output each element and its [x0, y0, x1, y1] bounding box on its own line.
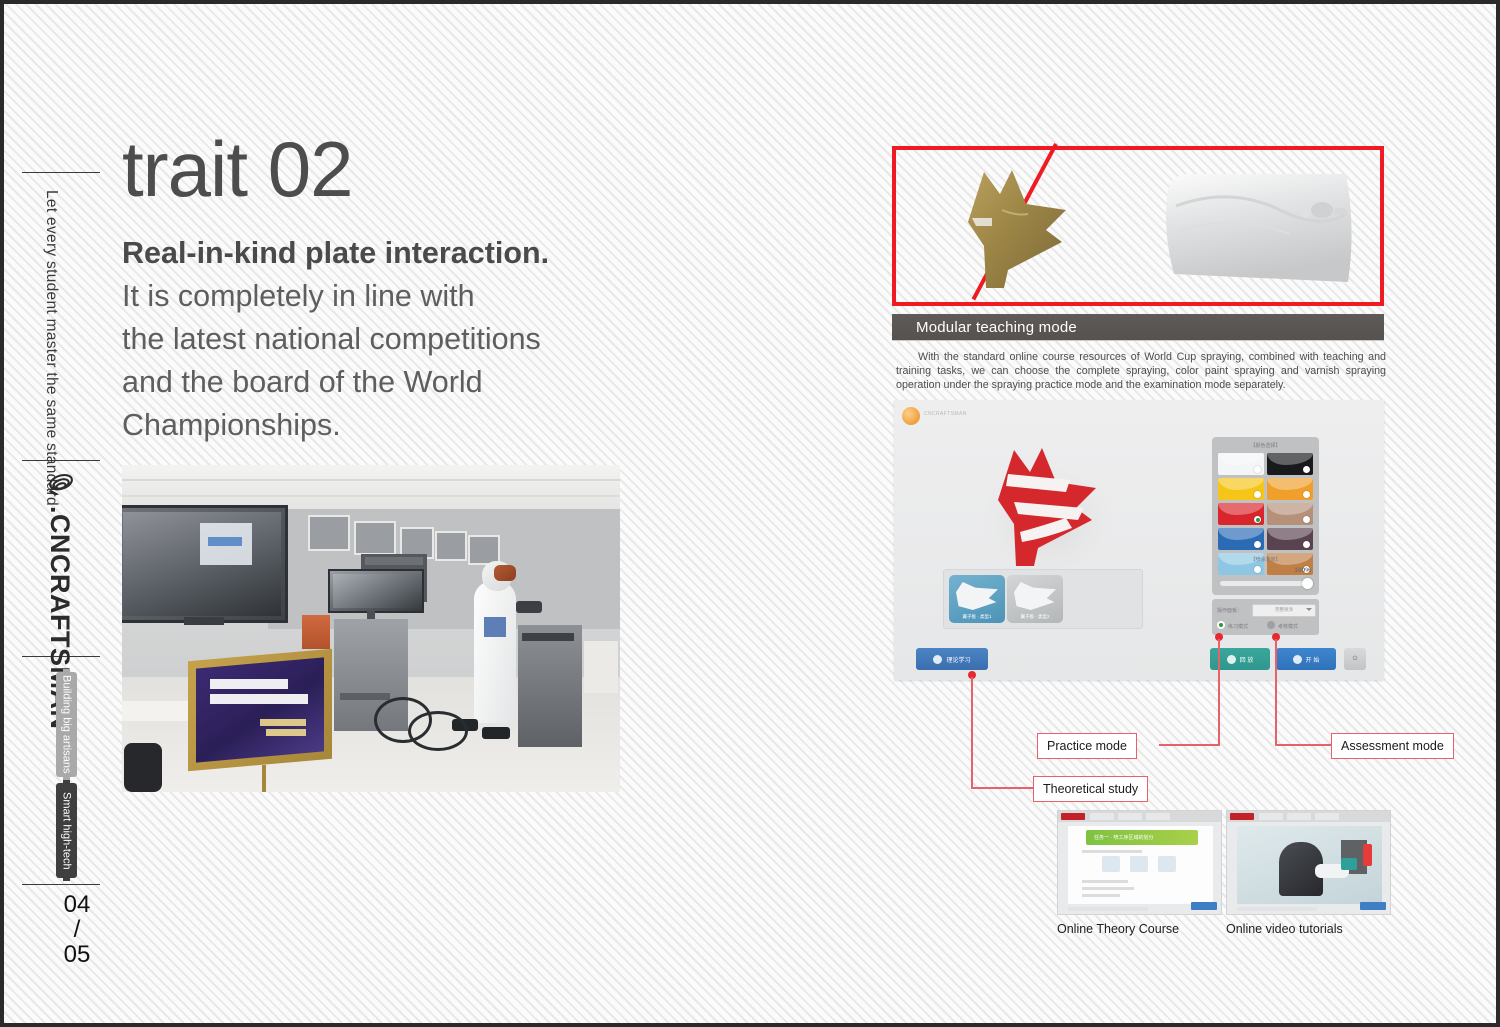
callout-line-theory-v	[971, 677, 973, 789]
spine-tagline: Let every student master the same standa…	[42, 190, 60, 506]
model-thumbnail-strip: 翼子板 · 类型1 翼子板 · 类型2	[943, 569, 1143, 629]
body-line-1: It is completely in line with	[122, 275, 682, 318]
player-progress-bar[interactable]	[1237, 907, 1317, 911]
callout-practice-mode: Practice mode	[1037, 733, 1137, 759]
radio-assessment-label: 考核模式	[1278, 624, 1298, 630]
book-icon	[933, 655, 942, 664]
mode-panel-label: 操作面板：	[1217, 607, 1242, 614]
operation-select[interactable]: 完整喷涂	[1252, 604, 1316, 617]
palette-title: 【颜色选择】	[1212, 442, 1319, 449]
swatch-gloss	[1267, 478, 1313, 490]
opacity-slider[interactable]	[1220, 581, 1311, 586]
swatch-selected-icon	[1254, 516, 1261, 523]
theory-study-label: 理论学习	[946, 655, 970, 664]
replay-icon	[1227, 655, 1236, 664]
callout-line-theory-h	[971, 787, 1033, 789]
page-total: 05	[42, 942, 112, 967]
theory-study-button[interactable]: 理论学习	[916, 648, 988, 670]
player-controls[interactable]	[1191, 902, 1217, 910]
browser-tab-1	[1259, 813, 1283, 820]
player-controls[interactable]	[1360, 902, 1386, 910]
swatch-dot-icon	[1303, 516, 1310, 523]
model-1-caption: 翼子板 · 类型1	[949, 614, 1005, 620]
model-thumbnail-2[interactable]: 翼子板 · 类型2	[1007, 575, 1063, 623]
check-circle-icon	[1293, 655, 1302, 664]
replay-label: 回 放	[1240, 655, 1254, 664]
color-swatch-red[interactable]	[1218, 503, 1264, 525]
section-header-bar: Modular teaching mode	[892, 314, 1384, 340]
chevron-down-icon	[1306, 608, 1312, 611]
parts-hero-frame	[892, 146, 1384, 306]
start-button[interactable]: 开 始	[1276, 648, 1336, 670]
browser-tab-3	[1315, 813, 1339, 820]
radio-practice-mode[interactable]: 练习模式	[1217, 621, 1248, 630]
callout-line-practice-v	[1218, 639, 1220, 746]
browser-tab-3	[1146, 813, 1170, 820]
browser-tab-2	[1118, 813, 1142, 820]
course-slide-header: 任务一 · 喷工序区域的划分	[1086, 830, 1198, 845]
course-slide-body: 任务一 · 喷工序区域的划分	[1068, 826, 1213, 904]
body-line-3: and the board of the World	[122, 361, 682, 404]
online-video-tutorials-thumbnail[interactable]	[1226, 810, 1391, 915]
callout-theoretical-study: Theoretical study	[1033, 776, 1148, 802]
body-line-2: the latest national competitions	[122, 318, 682, 361]
car-door-part-image	[1160, 168, 1360, 292]
app-logo-icon	[902, 407, 920, 425]
swatch-dot-icon	[1303, 491, 1310, 498]
course-figure-2-icon	[1130, 856, 1148, 872]
swatch-gloss	[1218, 503, 1264, 515]
callout-line-assess-v	[1275, 639, 1277, 746]
color-swatch-blue[interactable]	[1218, 528, 1264, 550]
page-number: 04 / 05	[42, 892, 112, 967]
start-label: 开 始	[1306, 655, 1320, 664]
section-paragraph: With the standard online course resource…	[896, 350, 1386, 393]
spray-gun	[1341, 858, 1357, 870]
power-icon: ⏻	[1353, 656, 1358, 663]
callout-practice-label: Practice mode	[1047, 739, 1127, 753]
color-palette-panel: 【颜色选择】 【喷涂浓度】 100%	[1212, 437, 1319, 595]
model-2-shape-icon	[1014, 582, 1056, 610]
color-swatch-tan[interactable]	[1267, 503, 1313, 525]
course-figure-1-icon	[1102, 856, 1120, 872]
course-slide-title: 任务一 · 喷工序区域的划分	[1094, 834, 1153, 841]
opacity-slider-knob[interactable]	[1302, 578, 1313, 589]
section-header-label: Modular teaching mode	[892, 319, 1077, 336]
tutorial-video-frame	[1237, 826, 1382, 904]
mode-panel: 操作面板： 完整喷涂 练习模式 考核模式	[1212, 599, 1319, 635]
callout-line-practice-h	[1159, 744, 1220, 746]
badge-smart-label: Smart high-tech	[56, 783, 77, 878]
radio-circle-icon	[1267, 621, 1275, 629]
swatch-gloss	[1267, 453, 1313, 465]
paint-bottle	[1363, 844, 1372, 866]
callout-line-assess-h	[1275, 744, 1331, 746]
lead-paragraph: Real-in-kind plate interaction. It is co…	[122, 232, 682, 447]
browser-tab-2	[1287, 813, 1311, 820]
swatch-gloss	[1218, 478, 1264, 490]
model-2-caption: 翼子板 · 类型2	[1007, 614, 1063, 620]
swatch-dot-icon	[1254, 466, 1261, 473]
brochure-page: Let every student master the same standa…	[0, 0, 1500, 1027]
page-title: trait 02	[122, 130, 352, 208]
badge-smart-high-tech: Smart high-tech	[56, 783, 77, 878]
swatch-gloss	[1218, 528, 1264, 540]
spine-divider-2	[22, 460, 100, 461]
swatch-dot-icon	[1254, 566, 1261, 573]
color-swatch-plum[interactable]	[1267, 528, 1313, 550]
training-room-photo	[122, 465, 620, 792]
badge-building-big-artisans: Building big artisans	[56, 672, 77, 777]
spine-divider-4	[22, 884, 100, 885]
color-swatch-orange[interactable]	[1267, 478, 1313, 500]
color-swatch-white[interactable]	[1218, 453, 1264, 475]
callout-theoretical-label: Theoretical study	[1043, 782, 1138, 796]
sprayed-fender-model	[974, 440, 1124, 580]
player-progress-bar[interactable]	[1068, 907, 1148, 911]
course-figure-3-icon	[1158, 856, 1176, 872]
page-separator: /	[42, 917, 112, 942]
swatch-dot-icon	[1254, 491, 1261, 498]
browser-tab-1	[1090, 813, 1114, 820]
power-button[interactable]: ⏻	[1344, 648, 1366, 670]
site-logo-icon	[1061, 813, 1085, 820]
palette-subtitle: 【喷涂浓度】	[1212, 556, 1319, 563]
swatch-dot-icon	[1303, 541, 1310, 548]
page-current: 04	[42, 892, 112, 917]
model-1-shape-icon	[956, 582, 998, 610]
spray-training-app-screenshot: CNCRAFTSMAN 翼子板 · 类型1	[894, 400, 1384, 680]
video-caption-1: Online Theory Course	[1057, 922, 1179, 936]
radio-assessment-mode[interactable]: 考核模式	[1267, 621, 1298, 630]
app-logo-text: CNCRAFTSMAN	[924, 411, 967, 417]
spine-divider-1	[22, 172, 100, 173]
swatch-gloss	[1267, 528, 1313, 540]
color-swatch-yellow[interactable]	[1218, 478, 1264, 500]
badge-artisans-label: Building big artisans	[56, 672, 77, 777]
callout-assessment-label: Assessment mode	[1341, 739, 1444, 753]
headline-bold: Real-in-kind plate interaction.	[122, 232, 682, 275]
site-logo-icon	[1230, 813, 1254, 820]
color-swatch-black[interactable]	[1267, 453, 1313, 475]
fender-part-image	[942, 160, 1082, 300]
model-thumbnail-1[interactable]: 翼子板 · 类型1	[949, 575, 1005, 623]
craftsman-logo-icon	[46, 470, 76, 500]
video-caption-2: Online video tutorials	[1226, 922, 1343, 936]
checkmark-icon	[1217, 621, 1225, 629]
body-line-4: Championships.	[122, 404, 682, 447]
radio-practice-label: 练习模式	[1228, 624, 1248, 630]
callout-assessment-mode: Assessment mode	[1331, 733, 1454, 759]
opacity-value: 100%	[1294, 567, 1311, 574]
swatch-dot-icon	[1254, 541, 1261, 548]
swatch-gloss	[1218, 453, 1264, 465]
online-theory-course-thumbnail[interactable]: 任务一 · 喷工序区域的划分	[1057, 810, 1222, 915]
swatch-gloss	[1267, 503, 1313, 515]
swatch-dot-icon	[1303, 466, 1310, 473]
